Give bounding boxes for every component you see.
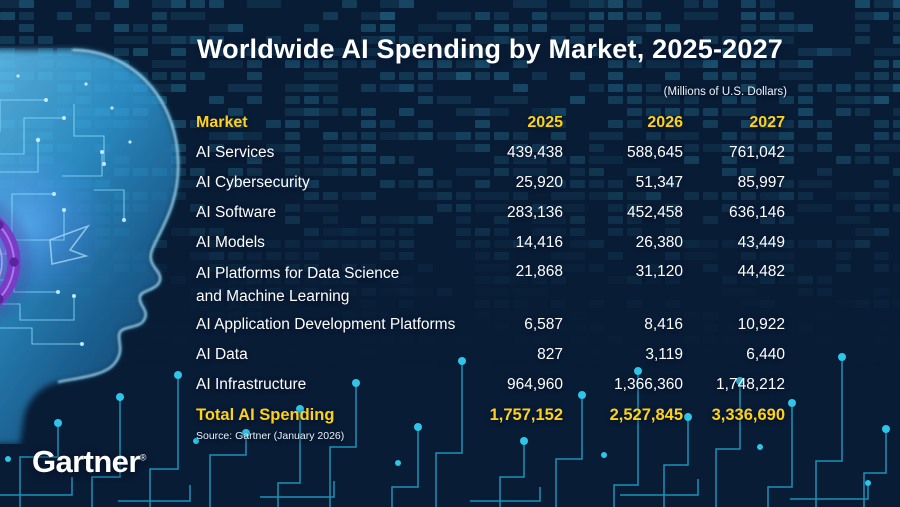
row-label: AI Application Development Platforms xyxy=(196,310,455,340)
row-value-2025: 21,868 xyxy=(433,258,563,285)
row-value-2025: 964,960 xyxy=(433,370,563,400)
row-value-2027: 636,146 xyxy=(655,198,785,228)
row-value-2027: 44,482 xyxy=(655,258,785,285)
table-row: AI Platforms for Data Science and Machin… xyxy=(0,258,900,310)
row-value-2027: 85,997 xyxy=(655,168,785,198)
row-label: AI Infrastructure xyxy=(196,370,306,400)
total-value-2027: 3,336,690 xyxy=(655,400,785,430)
row-value-2027: 761,042 xyxy=(655,138,785,168)
column-header-2027: 2027 xyxy=(655,108,785,138)
table-row: AI Cybersecurity 25,920 51,347 85,997 xyxy=(0,168,900,198)
gartner-logo: Gartner® xyxy=(32,444,146,480)
column-header-market: Market xyxy=(196,108,248,138)
table-total-row: Total AI Spending 1,757,152 2,527,845 3,… xyxy=(0,400,900,430)
spending-table: Market 2025 2026 2027 AI Services 439,43… xyxy=(0,108,900,430)
column-header-2025: 2025 xyxy=(433,108,563,138)
table-row: AI Application Development Platforms 6,5… xyxy=(0,310,900,340)
row-value-2025: 6,587 xyxy=(433,310,563,340)
row-value-2025: 25,920 xyxy=(433,168,563,198)
logo-text: Gartner xyxy=(32,444,140,479)
table-row: AI Models 14,416 26,380 43,449 xyxy=(0,228,900,258)
source-note: Source: Gartner (January 2026) xyxy=(196,430,344,442)
row-label: AI Services xyxy=(196,138,274,168)
units-note: (Millions of U.S. Dollars) xyxy=(664,86,787,98)
page-title: Worldwide AI Spending by Market, 2025-20… xyxy=(185,34,795,65)
row-label: AI Data xyxy=(196,340,248,370)
table-row: AI Infrastructure 964,960 1,366,360 1,74… xyxy=(0,370,900,400)
row-label: AI Cybersecurity xyxy=(196,168,310,198)
table-header-row: Market 2025 2026 2027 xyxy=(0,108,900,138)
table-row: AI Software 283,136 452,458 636,146 xyxy=(0,198,900,228)
row-label: AI Platforms for Data Science and Machin… xyxy=(196,258,399,308)
row-value-2025: 14,416 xyxy=(433,228,563,258)
row-label: AI Software xyxy=(196,198,276,228)
row-value-2027: 1,748,212 xyxy=(655,370,785,400)
row-value-2027: 43,449 xyxy=(655,228,785,258)
row-label: AI Models xyxy=(196,228,265,258)
row-value-2027: 6,440 xyxy=(655,340,785,370)
registered-trademark-icon: ® xyxy=(140,453,147,463)
table-row: AI Services 439,438 588,645 761,042 xyxy=(0,138,900,168)
total-label: Total AI Spending xyxy=(196,400,334,430)
infographic-canvas: Worldwide AI Spending by Market, 2025-20… xyxy=(0,0,900,507)
total-value-2025: 1,757,152 xyxy=(433,400,563,430)
row-value-2025: 827 xyxy=(433,340,563,370)
table-row: AI Data 827 3,119 6,440 xyxy=(0,340,900,370)
row-value-2025: 283,136 xyxy=(433,198,563,228)
row-value-2025: 439,438 xyxy=(433,138,563,168)
row-value-2027: 10,922 xyxy=(655,310,785,340)
